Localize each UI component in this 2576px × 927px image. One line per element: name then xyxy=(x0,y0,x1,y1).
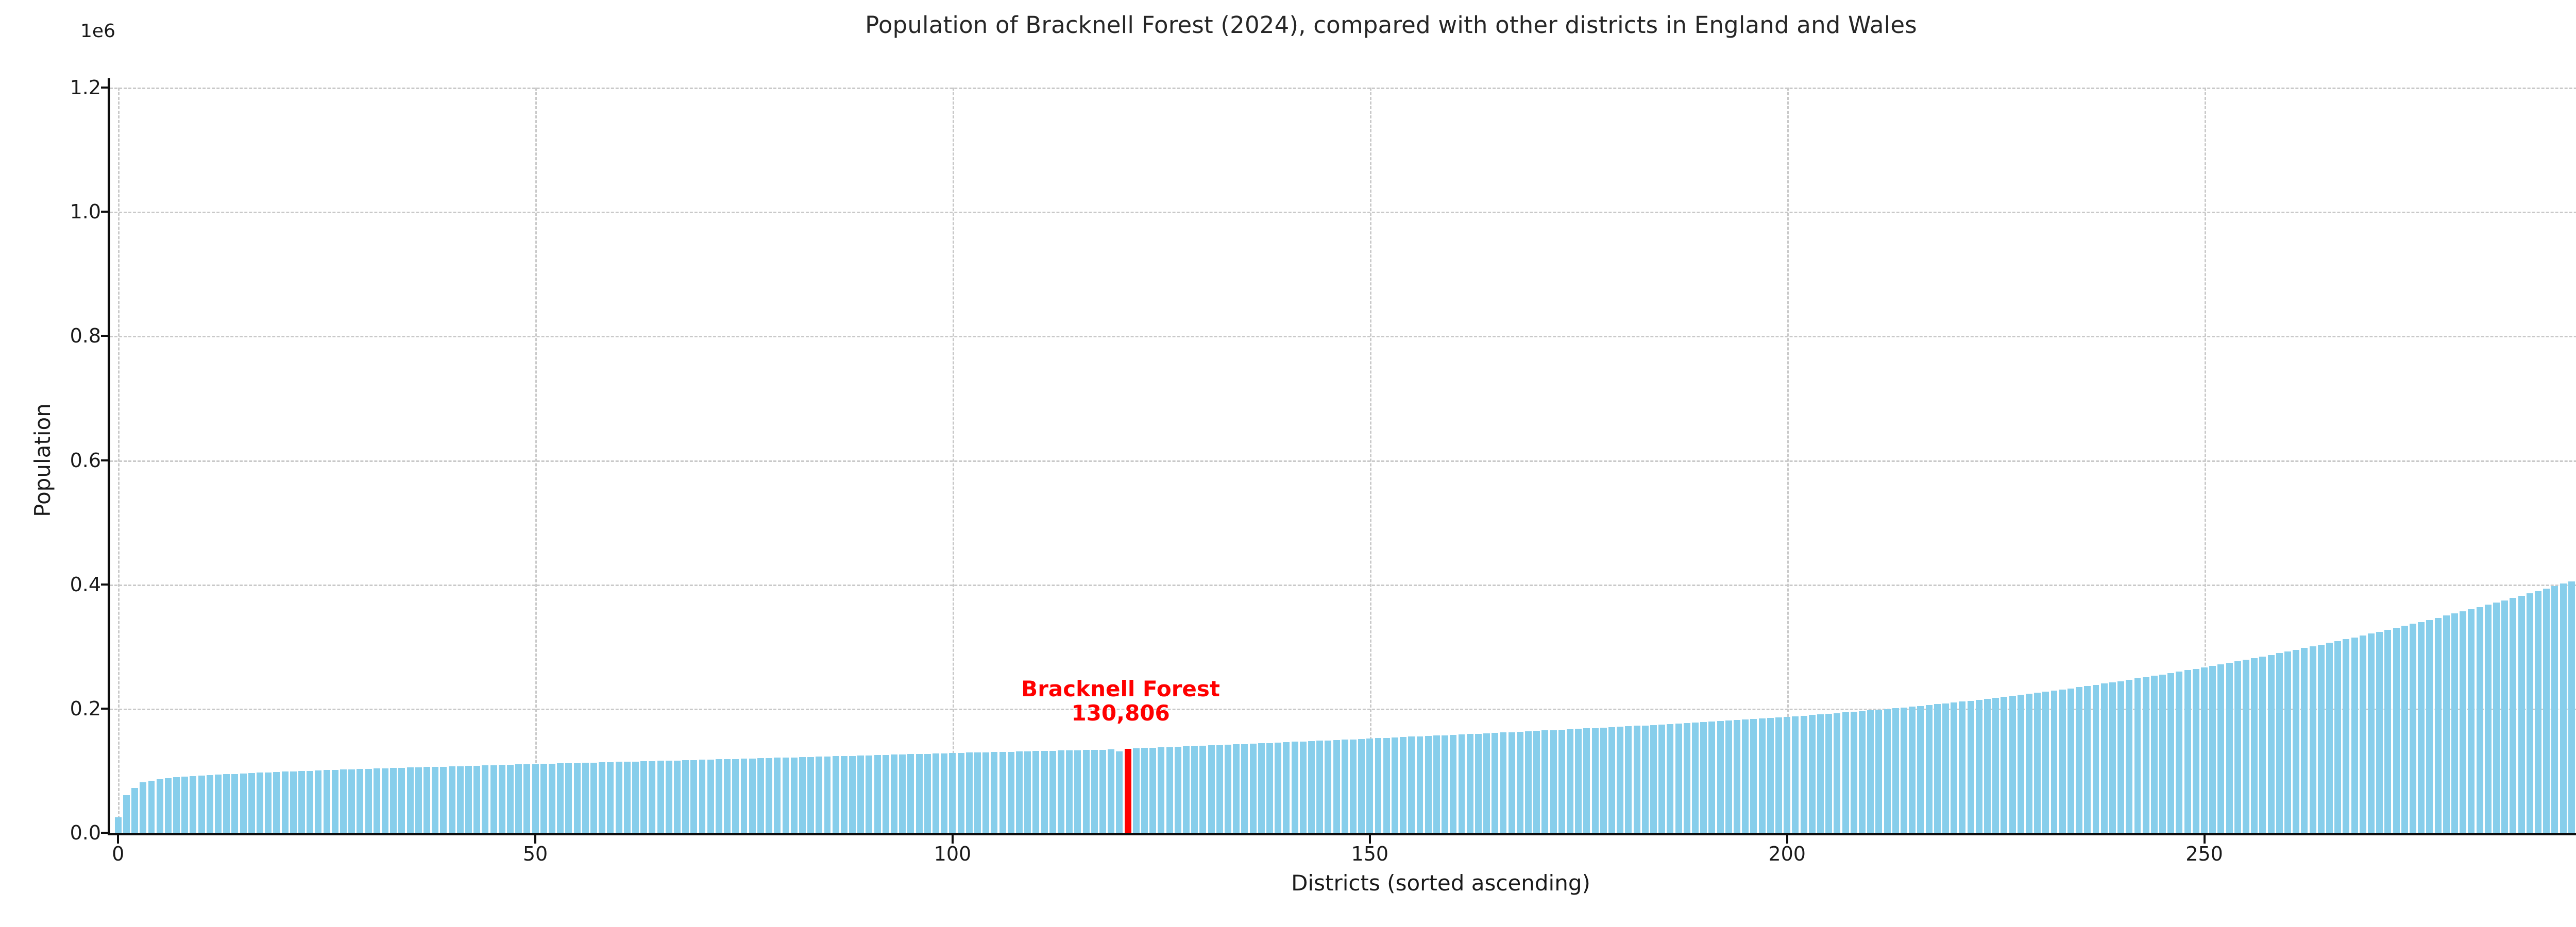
bar xyxy=(1617,727,1623,833)
bar xyxy=(2501,600,2508,833)
bar xyxy=(1500,732,1507,833)
bar xyxy=(2293,650,2299,833)
bar xyxy=(2176,672,2182,833)
bar xyxy=(140,782,146,833)
bar xyxy=(891,754,897,833)
bar xyxy=(1750,719,1757,833)
bar xyxy=(624,762,631,833)
bar xyxy=(907,754,914,833)
y-axis-tick-label: 1.2 xyxy=(70,76,101,99)
bar xyxy=(1592,728,1599,833)
bar xyxy=(2084,686,2091,833)
bar xyxy=(2243,660,2249,833)
bar xyxy=(2151,676,2158,833)
bar xyxy=(958,753,964,833)
bar xyxy=(2318,645,2325,833)
bar xyxy=(616,762,622,833)
x-axis-tick-mark xyxy=(1786,835,1788,844)
bar xyxy=(357,769,363,833)
bar xyxy=(1400,737,1406,833)
bar xyxy=(2101,683,2108,833)
bar xyxy=(2234,661,2241,833)
bar xyxy=(1058,750,1064,833)
bar xyxy=(2560,583,2567,833)
bar xyxy=(307,771,313,833)
bar xyxy=(1976,700,1982,833)
bar xyxy=(2018,695,2024,833)
bar xyxy=(933,753,939,833)
bar xyxy=(1775,717,1782,833)
bar xyxy=(1684,723,1690,833)
y-axis-tick-mark xyxy=(101,708,109,710)
bar xyxy=(223,774,230,833)
bar xyxy=(2426,620,2433,833)
bar xyxy=(231,774,238,833)
bar xyxy=(590,763,597,833)
bar xyxy=(1108,749,1114,833)
bar xyxy=(565,763,572,833)
bar xyxy=(799,757,806,833)
bar xyxy=(215,775,222,833)
bar xyxy=(1625,726,1632,833)
bar xyxy=(2384,630,2391,833)
bar xyxy=(1959,701,1965,833)
bar xyxy=(557,763,564,833)
bar xyxy=(2059,690,2066,833)
highlight-annotation-value: 130,806 xyxy=(1021,701,1220,725)
bar xyxy=(1942,703,1949,833)
y-axis-tick-label: 0.8 xyxy=(70,324,101,347)
bar xyxy=(1600,728,1607,833)
x-axis-tick-mark xyxy=(952,835,954,844)
bar xyxy=(1275,743,1281,833)
bar xyxy=(2301,648,2308,833)
bar xyxy=(1250,744,1257,833)
bar xyxy=(290,771,297,833)
bar xyxy=(1083,750,1090,833)
x-axis-tick-mark xyxy=(117,835,119,844)
bars-layer xyxy=(110,88,2576,833)
bar xyxy=(1216,745,1223,833)
bar xyxy=(181,777,188,833)
bar xyxy=(2051,691,2058,833)
bar xyxy=(148,781,155,833)
bar xyxy=(640,761,647,833)
bar xyxy=(833,756,839,833)
bar xyxy=(2193,669,2199,833)
bar xyxy=(1675,724,1682,833)
bar xyxy=(1350,740,1357,833)
bar xyxy=(248,773,255,833)
bar xyxy=(1951,702,1957,833)
bar xyxy=(198,776,205,833)
bar xyxy=(1475,734,1482,833)
bar xyxy=(866,756,872,833)
bar xyxy=(2477,607,2483,833)
bar xyxy=(1358,739,1365,833)
bar xyxy=(549,764,555,833)
y-axis-spine xyxy=(108,78,110,835)
bar xyxy=(1266,743,1273,833)
y-axis-tick-mark xyxy=(101,583,109,586)
bar xyxy=(2042,692,2049,833)
bar xyxy=(2143,677,2149,833)
bar xyxy=(1909,707,1916,833)
bar xyxy=(2184,670,2191,833)
bar xyxy=(1583,728,1590,833)
bar xyxy=(2217,664,2224,833)
bar xyxy=(916,754,923,833)
bar xyxy=(282,771,289,833)
y-axis-tick-mark xyxy=(101,211,109,213)
bar xyxy=(1008,752,1014,833)
bar xyxy=(1099,750,1106,833)
bar xyxy=(2076,687,2082,833)
bar xyxy=(1742,719,1749,833)
bar xyxy=(1342,740,1348,833)
y-axis-tick-label: 1.0 xyxy=(70,200,101,223)
bar xyxy=(123,795,130,833)
bar xyxy=(1066,750,1073,833)
bar xyxy=(507,765,514,833)
bar xyxy=(457,766,464,833)
bar xyxy=(1700,722,1707,833)
bar xyxy=(1658,725,1665,833)
bar xyxy=(2201,667,2208,833)
bar xyxy=(1258,743,1265,833)
bar xyxy=(2268,655,2275,833)
bar xyxy=(2209,666,2216,833)
bar xyxy=(398,768,405,833)
x-axis-tick-mark xyxy=(2204,835,2206,844)
bar xyxy=(2276,653,2283,833)
bar xyxy=(791,758,798,833)
bar xyxy=(532,764,539,833)
bar xyxy=(165,778,172,833)
bar xyxy=(2401,626,2408,833)
bar xyxy=(1825,714,1832,833)
bar xyxy=(1225,745,1231,833)
bar xyxy=(1634,726,1640,833)
bar xyxy=(1834,713,1840,833)
bar xyxy=(774,758,781,833)
bar xyxy=(374,768,380,833)
bar xyxy=(2326,643,2333,833)
bar xyxy=(407,767,414,833)
bar xyxy=(666,761,672,833)
bar xyxy=(1509,732,1515,833)
bar xyxy=(1459,734,1465,833)
bar xyxy=(741,759,748,833)
bar xyxy=(1183,746,1190,833)
bar xyxy=(2535,591,2541,833)
bar xyxy=(515,764,522,833)
bar xyxy=(1158,747,1164,833)
bar xyxy=(2093,685,2099,833)
bar xyxy=(1074,750,1081,833)
bar xyxy=(883,755,889,833)
x-axis-tick-label: 0 xyxy=(112,843,124,865)
bar xyxy=(257,772,263,833)
x-axis-tick-mark xyxy=(534,835,536,844)
bar xyxy=(632,762,639,833)
bar xyxy=(382,768,388,833)
y-axis-tick-mark xyxy=(101,459,109,461)
bar xyxy=(2284,651,2291,833)
bar xyxy=(465,766,472,833)
bar xyxy=(1016,751,1023,833)
bar xyxy=(2460,611,2466,833)
bar xyxy=(2360,636,2366,833)
bar xyxy=(1550,730,1557,833)
bar xyxy=(499,765,505,833)
bar xyxy=(2510,598,2516,833)
bar xyxy=(157,779,163,833)
bar xyxy=(2134,678,2141,833)
bar xyxy=(1792,716,1799,833)
bar xyxy=(2334,641,2341,833)
bar xyxy=(2001,697,2007,833)
bar xyxy=(1392,737,1398,833)
bar xyxy=(1968,701,1974,833)
bar xyxy=(707,760,714,833)
bar xyxy=(1292,742,1298,833)
bar xyxy=(2485,605,2492,833)
bar xyxy=(1650,725,1657,833)
x-axis-tick-mark xyxy=(1369,835,1371,844)
bar xyxy=(2368,633,2375,833)
bar xyxy=(332,770,338,833)
bar xyxy=(1892,708,1899,833)
bar xyxy=(2418,622,2425,833)
bar xyxy=(2109,682,2116,833)
bar xyxy=(365,769,372,833)
x-axis-tick-label: 50 xyxy=(523,843,548,865)
bar xyxy=(2543,589,2550,833)
bar xyxy=(599,762,605,833)
bar xyxy=(1884,709,1891,833)
bar xyxy=(1091,750,1098,833)
bar xyxy=(1442,735,1448,833)
bar-highlighted xyxy=(1125,749,1131,833)
bar xyxy=(315,770,321,833)
bar xyxy=(2067,689,2074,833)
bar xyxy=(2393,628,2400,833)
bar xyxy=(1166,747,1173,833)
bar xyxy=(240,774,247,833)
bar xyxy=(1759,718,1766,833)
bar xyxy=(2117,681,2124,833)
bar xyxy=(1708,722,1715,833)
bar xyxy=(2493,603,2500,833)
y-axis-tick-label: 0.6 xyxy=(70,449,101,472)
bar xyxy=(432,767,438,833)
bar xyxy=(1917,706,1924,833)
bar xyxy=(173,777,180,833)
bar xyxy=(1175,747,1181,833)
bar xyxy=(1283,742,1290,833)
bar xyxy=(874,755,881,833)
bar xyxy=(440,767,447,833)
bar xyxy=(1867,710,1874,833)
bar xyxy=(766,758,772,833)
bar xyxy=(2351,638,2358,833)
bar xyxy=(1541,730,1548,833)
bar xyxy=(2009,696,2016,833)
bar xyxy=(2126,680,2132,833)
bar xyxy=(1667,724,1673,833)
bar xyxy=(690,760,697,833)
bar xyxy=(1992,698,1999,833)
bar xyxy=(724,759,731,833)
bar xyxy=(1525,731,1532,833)
bar xyxy=(1325,741,1331,833)
bar xyxy=(1934,704,1941,833)
bar xyxy=(783,758,789,833)
bar xyxy=(298,771,305,833)
bar xyxy=(2034,693,2041,833)
bar xyxy=(1241,744,1248,833)
bar xyxy=(1575,729,1582,833)
bar xyxy=(115,817,122,833)
bar xyxy=(423,767,430,833)
bar xyxy=(824,757,831,833)
bar xyxy=(1024,751,1031,833)
bar xyxy=(1383,738,1390,833)
bar xyxy=(131,788,138,833)
bar xyxy=(2468,609,2475,833)
y-axis-tick-labels: 0.00.20.40.60.81.01.2 xyxy=(0,0,101,927)
bar xyxy=(390,768,397,833)
bar xyxy=(1984,699,1991,833)
bar xyxy=(682,760,689,833)
bar xyxy=(966,752,973,833)
y-axis-tick-mark xyxy=(101,832,109,834)
x-axis-tick-label: 250 xyxy=(2185,843,2223,865)
x-axis-tick-label: 200 xyxy=(1768,843,1806,865)
bar xyxy=(1408,736,1415,833)
bar xyxy=(2343,639,2349,833)
bar xyxy=(657,761,664,833)
bar xyxy=(1517,732,1523,833)
bar xyxy=(2435,618,2442,833)
bar xyxy=(2159,675,2166,833)
bar xyxy=(207,775,213,833)
bar xyxy=(1467,734,1473,833)
bar xyxy=(490,765,497,833)
bar xyxy=(1233,744,1240,833)
bar xyxy=(473,766,480,833)
bar xyxy=(949,753,956,833)
highlight-annotation-name: Bracknell Forest xyxy=(1021,677,1220,701)
bar xyxy=(941,753,947,833)
bar xyxy=(2518,596,2525,833)
y-axis-tick-label: 0.0 xyxy=(70,821,101,844)
bar xyxy=(1817,714,1824,833)
bar xyxy=(1133,748,1140,833)
bar xyxy=(1533,731,1540,833)
bar xyxy=(415,767,422,833)
x-axis-tick-label: 100 xyxy=(934,843,972,865)
chart-figure: Population of Bracknell Forest (2024), c… xyxy=(0,0,2576,927)
bar xyxy=(1851,712,1857,833)
bar xyxy=(1767,718,1774,833)
bar xyxy=(2451,613,2458,833)
bar xyxy=(1558,730,1565,833)
bar xyxy=(857,756,864,833)
bar xyxy=(1049,751,1056,833)
bar xyxy=(1417,736,1423,833)
bar xyxy=(841,756,848,833)
bar xyxy=(1492,733,1498,833)
bar xyxy=(2226,663,2233,833)
bar xyxy=(899,754,906,833)
bar xyxy=(924,754,931,833)
bar xyxy=(2310,646,2316,833)
bar xyxy=(1725,720,1732,833)
bar xyxy=(1032,751,1039,833)
y-axis-tick-mark xyxy=(101,87,109,89)
bar xyxy=(2251,658,2258,833)
bar xyxy=(1642,726,1649,833)
bar xyxy=(1608,727,1615,833)
chart-title: Population of Bracknell Forest (2024), c… xyxy=(0,11,2576,39)
bar xyxy=(1901,708,1907,833)
bar xyxy=(1483,733,1490,833)
bar xyxy=(749,759,756,833)
y-axis-tick-label: 0.4 xyxy=(70,573,101,596)
bar xyxy=(2376,632,2383,833)
bar xyxy=(2259,657,2266,833)
x-axis-label: Districts (sorted ascending) xyxy=(110,870,2576,896)
bar xyxy=(1116,751,1123,833)
bar xyxy=(757,758,764,833)
bar xyxy=(540,764,547,833)
bar xyxy=(523,764,530,833)
bar xyxy=(1801,716,1807,833)
bar xyxy=(340,769,347,833)
bar xyxy=(574,763,581,833)
bar xyxy=(1308,741,1315,833)
bar xyxy=(1366,739,1373,833)
bar xyxy=(1734,720,1740,833)
bar xyxy=(1450,735,1456,833)
bar xyxy=(1316,741,1323,833)
bar xyxy=(1842,712,1849,833)
bar xyxy=(2568,581,2575,833)
bar xyxy=(1333,740,1340,833)
bar xyxy=(324,770,330,833)
bar xyxy=(2551,586,2558,833)
bar xyxy=(1875,710,1882,833)
bar xyxy=(1149,748,1156,833)
bar xyxy=(674,761,681,833)
bar xyxy=(482,765,488,833)
y-axis-tick-mark xyxy=(101,335,109,337)
bar xyxy=(1300,742,1307,833)
bar xyxy=(1141,748,1148,833)
bar xyxy=(2026,694,2032,833)
bar xyxy=(1926,705,1933,833)
bar xyxy=(1809,715,1816,833)
bar xyxy=(190,776,196,833)
bar xyxy=(449,766,455,833)
bar xyxy=(1692,723,1699,833)
bar xyxy=(816,757,822,833)
bar xyxy=(1859,711,1866,833)
bar xyxy=(974,752,981,833)
bar xyxy=(1425,736,1432,833)
